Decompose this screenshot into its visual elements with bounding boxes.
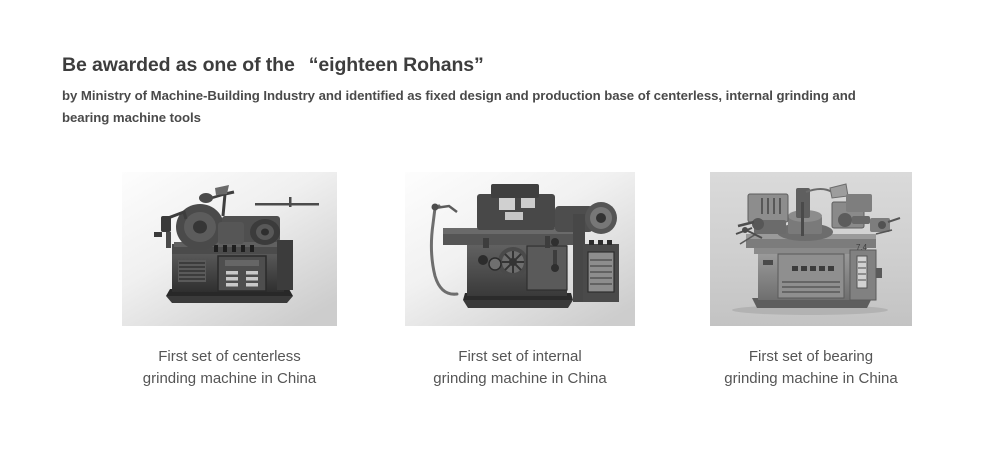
photo-caption-internal: First set of internal grinding machine i… (405, 346, 635, 390)
page-subtitle: by Ministry of Machine-Building Industry… (62, 85, 862, 129)
photo-internal-grinding-machine (405, 172, 635, 326)
slide-page: Be awarded as one of the“eighteen Rohans… (0, 0, 1000, 471)
photo-cell-centerless: First set of centerless grinding machine… (122, 172, 337, 390)
photo-bearing-grinding-machine: 7.4 (710, 172, 912, 326)
photo-cell-internal: First set of internal grinding machine i… (405, 172, 635, 390)
heading-block: Be awarded as one of the“eighteen Rohans… (62, 52, 942, 129)
photo-caption-bearing: First set of bearing grinding machine in… (710, 346, 912, 390)
page-title: Be awarded as one of the“eighteen Rohans… (62, 52, 942, 78)
photo-cell-bearing: 7.4 (710, 172, 912, 390)
machine-illustration-bearing: 7.4 (710, 172, 912, 326)
page-title-main: Be awarded as one of the (62, 54, 295, 76)
machine-illustration-internal (405, 172, 635, 326)
machine-illustration-centerless (122, 172, 337, 326)
page-title-quoted: “eighteen Rohans” (309, 54, 484, 76)
photo-centerless-grinding-machine (122, 172, 337, 326)
photo-row: First set of centerless grinding machine… (0, 172, 1000, 402)
photo-caption-centerless: First set of centerless grinding machine… (122, 346, 337, 390)
svg-text:7.4: 7.4 (856, 243, 868, 252)
